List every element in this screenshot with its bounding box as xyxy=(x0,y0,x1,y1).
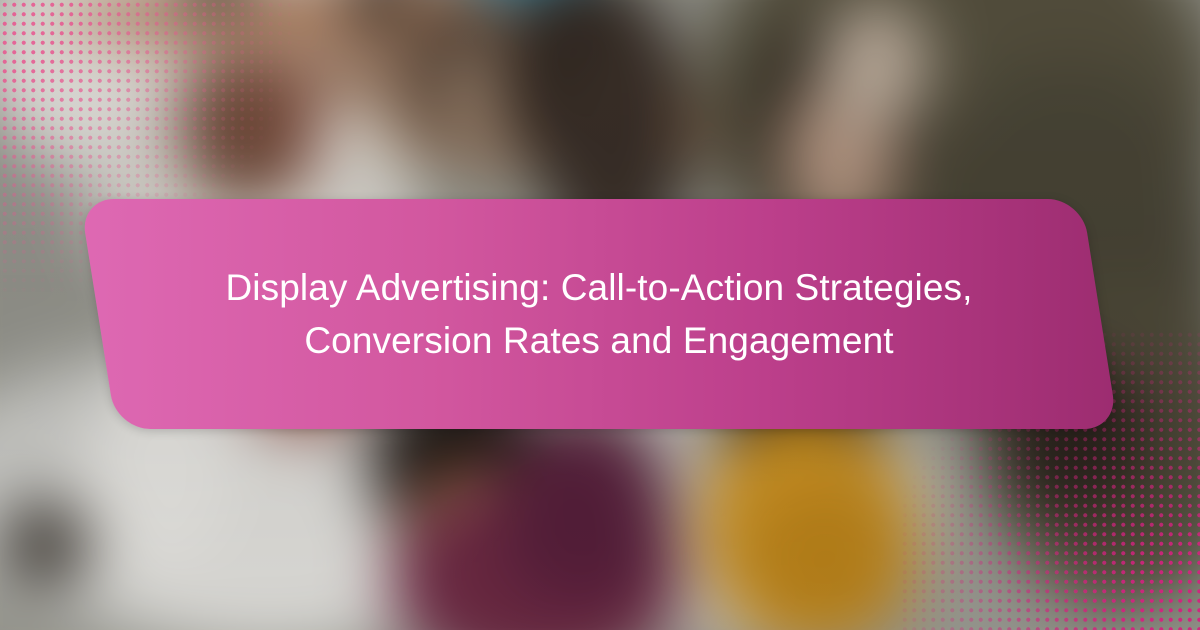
title-banner: Display Advertising: Call-to-Action Stra… xyxy=(98,199,1100,429)
social-share-card: Display Advertising: Call-to-Action Stra… xyxy=(0,0,1200,630)
page-title-line-1: Display Advertising: Call-to-Action Stra… xyxy=(225,269,972,306)
title-banner-text: Display Advertising: Call-to-Action Stra… xyxy=(98,199,1100,429)
page-title-line-2: Conversion Rates and Engagement xyxy=(304,322,893,359)
